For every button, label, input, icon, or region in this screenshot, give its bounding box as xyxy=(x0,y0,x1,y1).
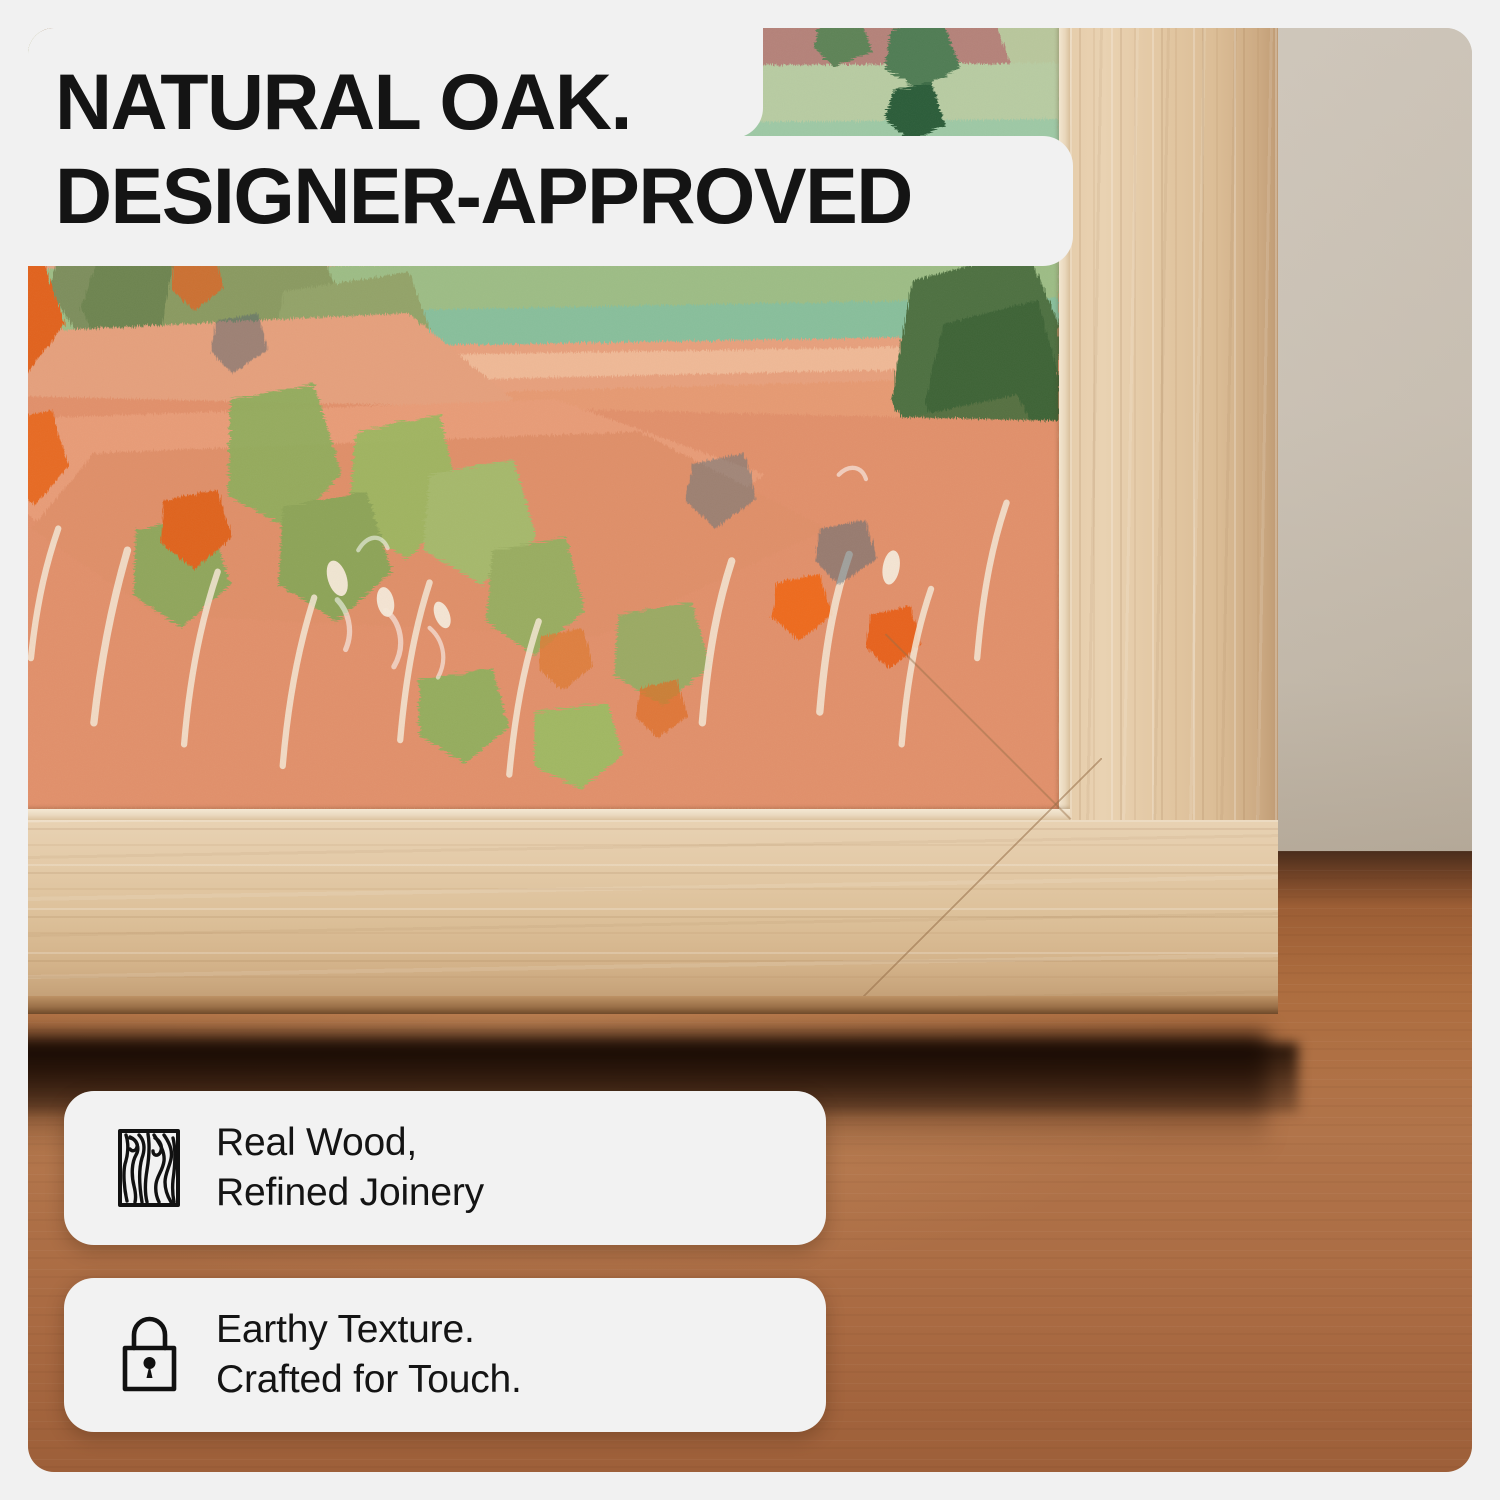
frame-mitre-joint xyxy=(862,758,1102,998)
wood-grain-icon-svg xyxy=(117,1128,181,1208)
oak-picture-frame xyxy=(28,28,1278,1058)
product-photo: NATURAL OAK. DESIGNER-APPROVED xyxy=(28,28,1472,1472)
product-image-canvas: NATURAL OAK. DESIGNER-APPROVED xyxy=(0,0,1500,1500)
feature-badge-label: Real Wood, Refined Joinery xyxy=(216,1118,484,1218)
feature-badge-list: Real Wood, Refined Joinery Earthy Textur… xyxy=(64,1091,826,1465)
lock-icon-svg xyxy=(117,1315,181,1395)
feature-badge-earthy-texture[interactable]: Earthy Texture. Crafted for Touch. xyxy=(64,1278,826,1432)
lock-icon xyxy=(112,1314,186,1396)
wood-grain-icon xyxy=(112,1127,186,1209)
artwork-painting xyxy=(28,28,1059,809)
artwork-canvas xyxy=(28,28,1059,809)
feature-badge-label: Earthy Texture. Crafted for Touch. xyxy=(216,1305,522,1405)
frame-front-edge xyxy=(28,996,1278,1014)
feature-badge-real-wood[interactable]: Real Wood, Refined Joinery xyxy=(64,1091,826,1245)
